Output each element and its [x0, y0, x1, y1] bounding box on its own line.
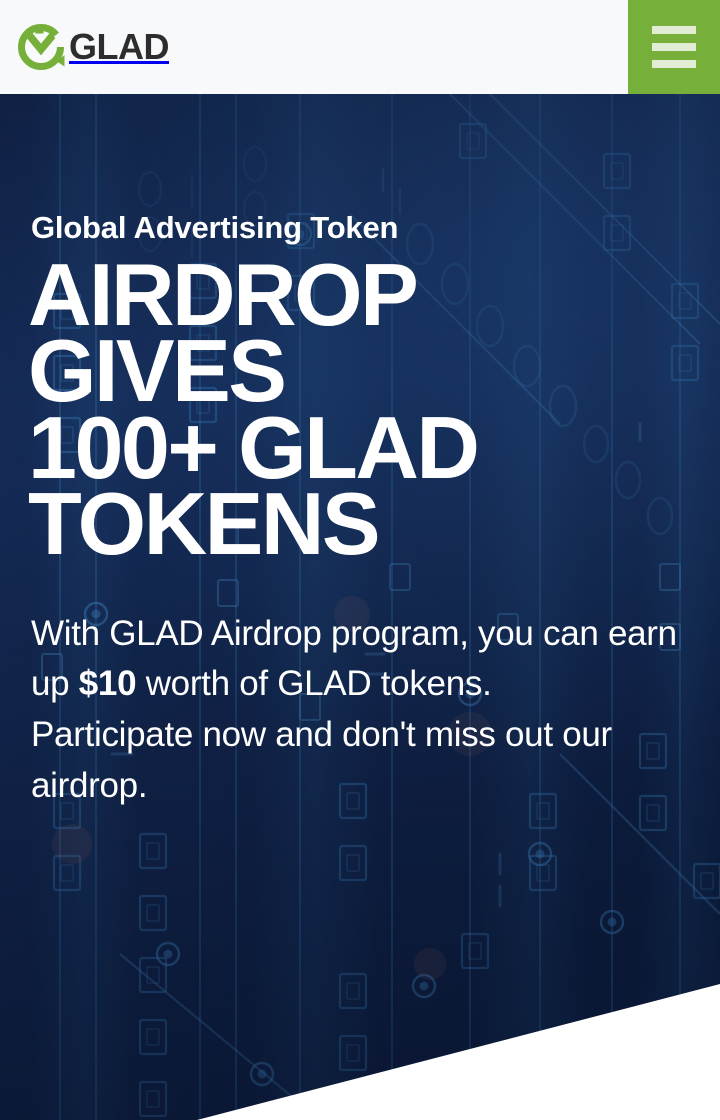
description-part-3: Participate now and don't miss out our a… — [31, 710, 684, 812]
hamburger-menu-button[interactable] — [628, 0, 720, 94]
description-part-2: worth of GLAD tokens. — [136, 664, 491, 703]
site-header: GLAD — [0, 0, 720, 94]
hero-headline: AIRDROP GIVES 100+ GLAD TOKENS — [28, 257, 720, 563]
description-amount: $10 — [79, 664, 137, 703]
hamburger-bar-bottom — [652, 60, 696, 68]
hero-description: With GLAD Airdrop program, you can earn … — [31, 609, 684, 812]
hero-section: Global Advertising Token AIRDROP GIVES 1… — [0, 94, 720, 1120]
hamburger-bar-top — [652, 26, 696, 34]
landing-page: GLAD — [0, 0, 720, 1120]
glad-refresh-check-logo-icon — [16, 22, 66, 72]
hamburger-bar-middle — [652, 43, 696, 51]
hero-eyebrow: Global Advertising Token — [31, 212, 720, 245]
brand-logo-link[interactable]: GLAD — [16, 22, 169, 72]
brand-wordmark: GLAD — [69, 29, 169, 65]
hero-content: Global Advertising Token AIRDROP GIVES 1… — [0, 94, 720, 812]
headline-line-4: TOKENS — [28, 486, 720, 563]
